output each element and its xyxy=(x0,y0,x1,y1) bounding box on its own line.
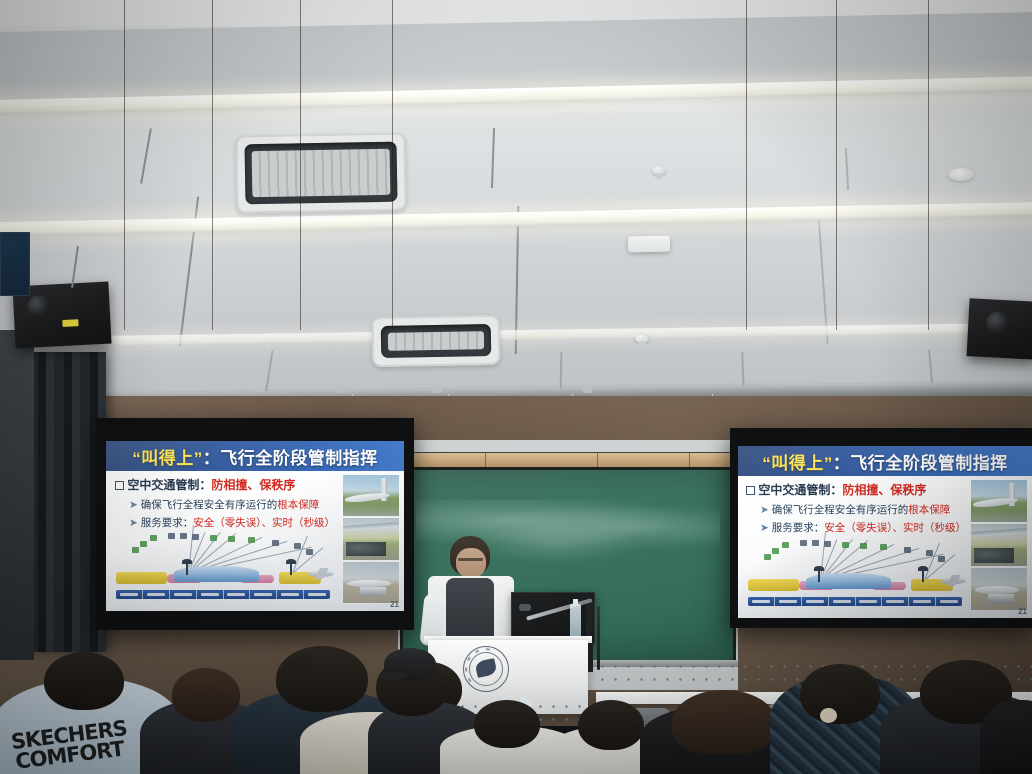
projection-screen-left: “叫得上”：飞行全阶段管制指挥 空中交通管制：防相撞、保秩序 ➤ 确保飞行全程安… xyxy=(96,418,414,630)
slide-sub-bullet-2: ➤ 服务要求：安全（零失误）、实时（秒级） xyxy=(760,520,962,536)
slide-diagram xyxy=(748,540,972,606)
slide-bullet-main: 空中交通管制：防相撞、保秩序 xyxy=(115,477,333,494)
audience-member-head xyxy=(474,700,540,748)
diagram-phase-bar xyxy=(748,597,962,606)
photo-airport-apron xyxy=(971,568,1027,610)
audience-member-head xyxy=(578,700,644,750)
ceiling-ac-vent-icon xyxy=(372,315,501,367)
wood-panel-seam xyxy=(124,0,125,330)
slide-right: “叫得上”：飞行全阶段管制指挥 空中交通管制：防相撞、保秩序 ➤ 确保飞行全程安… xyxy=(738,446,1032,618)
photo-control-tower xyxy=(343,475,399,516)
slide-page-number: 21 xyxy=(1018,607,1027,616)
wood-panel-seam xyxy=(212,0,213,330)
photo-airport-apron xyxy=(343,562,399,603)
hair-scrunchie xyxy=(820,708,837,723)
audience-member-head xyxy=(44,652,124,710)
wood-panel-seam xyxy=(928,0,929,330)
audience-member-head xyxy=(276,646,368,712)
slide-diagram xyxy=(116,533,344,599)
university-emblem-icon xyxy=(463,646,509,692)
slide-title: “叫得上”：飞行全阶段管制指挥 xyxy=(106,441,404,471)
photo-terminal-interior xyxy=(971,524,1027,566)
slide-sub-bullet-1: ➤ 确保飞行全程安全有序运行的根本保障 xyxy=(760,502,962,518)
lecture-hall-photo: “叫得上”：飞行全阶段管制指挥 空中交通管制：防相撞、保秩序 ➤ 确保飞行全程安… xyxy=(0,0,1032,774)
presenter-face xyxy=(456,548,486,578)
smoke-detector-icon xyxy=(652,166,666,175)
wood-panel-seam xyxy=(746,0,747,330)
ceiling-ac-vent-icon xyxy=(235,133,406,214)
board-top-trim xyxy=(400,452,736,468)
slide-sub-bullet-2: ➤ 服务要求：安全（零失误）、实时（秒级） xyxy=(129,515,333,531)
photo-terminal-interior xyxy=(343,518,399,559)
slide-title-highlight: “叫得上” xyxy=(762,449,833,474)
audience-member-body xyxy=(980,700,1032,774)
diagram-phase-bar xyxy=(116,590,330,599)
audience-member-head xyxy=(672,690,776,754)
smoke-detector-icon xyxy=(635,334,649,343)
presenter-glasses xyxy=(458,558,483,561)
slide-title: “叫得上”：飞行全阶段管制指挥 xyxy=(738,446,1032,476)
rail-hanger xyxy=(337,386,346,393)
wall-pillar-left xyxy=(0,330,34,660)
slide-bullet-main: 空中交通管制：防相撞、保秩序 xyxy=(746,482,962,499)
projection-screen-right: “叫得上”：飞行全阶段管制指挥 空中交通管制：防相撞、保秩序 ➤ 确保飞行全程安… xyxy=(730,428,1032,628)
slide-photo-strip xyxy=(343,475,399,603)
slide-title-highlight: “叫得上” xyxy=(132,444,203,469)
downlight-icon xyxy=(948,168,974,181)
rail-hanger xyxy=(583,386,592,393)
slide-page-number: 21 xyxy=(390,600,399,609)
ceiling-projector-mount xyxy=(628,236,670,253)
photo-control-tower xyxy=(971,480,1027,522)
wall-display-left xyxy=(0,232,30,296)
microphone-head-icon xyxy=(519,604,531,611)
slide-left: “叫得上”：飞行全阶段管制指挥 空中交通管制：防相撞、保秩序 ➤ 确保飞行全程安… xyxy=(106,441,404,611)
wood-panel-seam xyxy=(300,0,301,330)
slide-sub-bullet-1: ➤ 确保飞行全程安全有序运行的根本保障 xyxy=(129,497,333,513)
wood-panel-seam xyxy=(836,0,837,330)
audience-member-head xyxy=(800,664,880,724)
wood-panel-seam xyxy=(392,0,393,330)
audience-member-head xyxy=(172,668,240,722)
rail-hanger xyxy=(433,386,442,393)
slide-photo-strip xyxy=(971,480,1027,610)
stage-curtain xyxy=(28,352,106,652)
baseball-cap xyxy=(384,648,436,680)
ceiling-speaker-right xyxy=(967,298,1032,360)
